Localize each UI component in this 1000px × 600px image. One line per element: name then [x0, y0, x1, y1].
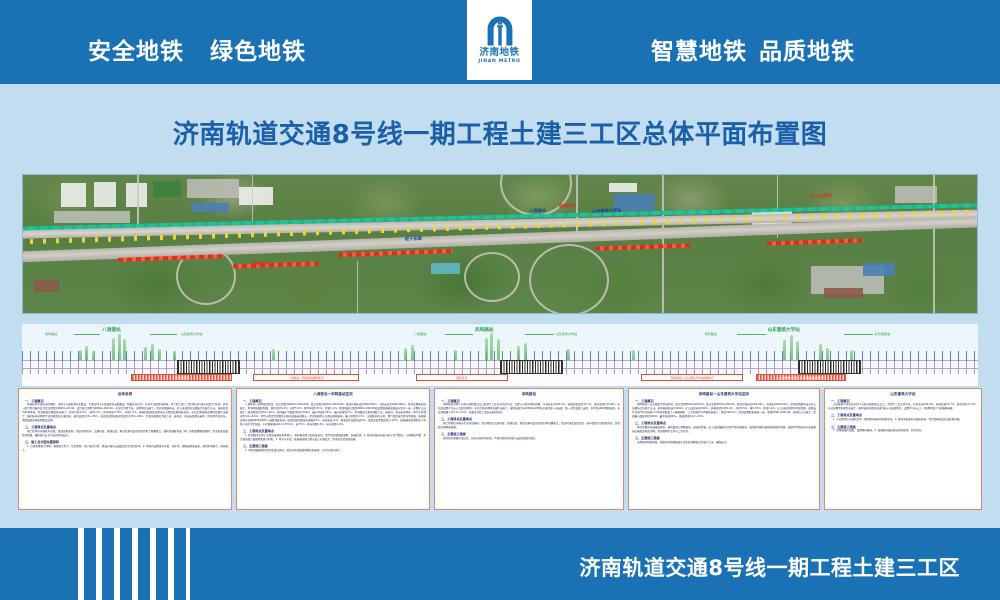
- panel-paragraph: 施工区域内穿越既有道路、管线及构筑物，周边环境复杂，交通导改、管线迁改、降水及基…: [22, 430, 228, 438]
- profile-tree-icon: [485, 338, 488, 360]
- panel-heading: 一、工程概况: [243, 398, 426, 403]
- profile-tree-icon: [490, 333, 493, 360]
- map-sports-field: [153, 181, 182, 198]
- page-title: 济南轨道交通8号线一期工程土建三工区总体平面布置图: [0, 114, 1000, 151]
- map-label-segment: 盾构区间: [559, 202, 576, 209]
- slogan-right: 智慧地铁品质地铁: [651, 32, 855, 66]
- panel-heading: 三、主要施工措施: [441, 431, 620, 436]
- profile-leader-line: [74, 334, 101, 335]
- profile-station-box: [500, 360, 563, 374]
- map-building: [187, 179, 239, 198]
- profile-tree-icon: [819, 344, 822, 360]
- profile-tree-icon: [404, 348, 407, 360]
- panel-heading: 二、工程特点及重难点: [635, 420, 816, 425]
- panel-paragraph: 1. 本区间根据地层条件及周边环境，制定分区段掘进参数控制标准，实行信息化施工。: [240, 449, 426, 453]
- map-alignment-marker: [233, 262, 319, 269]
- map-building: [191, 203, 229, 213]
- profile-tree-icon: [123, 339, 126, 360]
- profile-station-label: 山东建筑大学站: [768, 327, 800, 333]
- longitudinal-profile-drawing: 八涧堡站 凤鸣路站 山东建筑大学站 凤鸣路站 八涧堡站 山东建筑大学站 山东建筑…: [22, 324, 978, 386]
- panel-paragraph: 凤鸣路站～山东建筑大学站区间，起点里程ZDK0+000.00，终点里程ZDK0+…: [632, 403, 816, 419]
- panel-heading: 二、工程特点及重难点: [243, 428, 426, 433]
- panel-heading: 二、工程特点及重难点: [831, 412, 978, 417]
- panel-title: 凤鸣路站: [438, 391, 620, 396]
- profile-segment-box: 山东建筑大学站～彩石南路站盾构区间: [756, 374, 846, 381]
- map-road: [933, 175, 934, 313]
- profile-tree-icon: [632, 350, 635, 360]
- profile-tree-icon: [567, 349, 570, 360]
- map-building: [863, 263, 895, 275]
- jinan-metro-logo: 济南地铁 JINAN METRO: [467, 0, 532, 80]
- logo-text-en: JINAN METRO: [478, 60, 520, 65]
- slogan-safe-metro: 安全地铁: [88, 39, 184, 65]
- profile-leader-line: [844, 334, 873, 335]
- panel-paragraph: 本标段位于济南市历城区，沿经十东路由西向东敷设，主要沿经十东路及既有道路敷设，线…: [22, 403, 228, 423]
- panel-title: 山东建筑大学站: [828, 391, 978, 396]
- map-label-station: 山东建筑大学站: [591, 208, 621, 215]
- panel-paragraph: 区间穿越石灰岩硬岩地层，盾构掘进刀具磨损快，掘进效率低；矿山法段爆破作业需严格控…: [632, 426, 816, 434]
- map-building: [61, 183, 86, 206]
- profile-tree-icon: [151, 344, 154, 360]
- slogan-left: 安全地铁绿色地铁: [88, 32, 306, 66]
- map-building: [609, 183, 638, 191]
- panel-paragraph: 八涧堡站～凤鸣路站区间，起点里程为ZDK0+000.000，终点里程为ZDK0+…: [240, 403, 426, 427]
- panel-paragraph: 1. 合理布置施工场地，满足施工生产、生活需要，减少临时占地，降低对城市交通及居…: [22, 445, 228, 453]
- panel-heading: 二、工程特点及重难点: [25, 424, 228, 429]
- profile-tree-icon: [85, 346, 88, 360]
- panel-paragraph: 凤鸣路站为经十东路与凤鸣路交叉口处地下二层岛式站台车站，沿经十东路东西向布置，车…: [438, 403, 620, 415]
- profile-tree-icon: [826, 348, 829, 360]
- panel-heading: 三、施工总平面布置原则: [25, 439, 228, 444]
- profile-tree-icon: [783, 340, 786, 360]
- profile-tree-icon: [517, 346, 520, 360]
- panel-title: 凤鸣路站～山东建筑大学站区间: [632, 391, 816, 396]
- profile-station-box: [177, 360, 240, 374]
- logo-text-cn: 济南地铁: [479, 48, 519, 58]
- panel-title: 总体说明: [22, 391, 228, 396]
- map-alignment-marker: [595, 244, 690, 251]
- map-building: [34, 280, 59, 292]
- panel-heading: 三、主要施工措施: [831, 424, 978, 429]
- map-label-road: 经十东路: [404, 235, 421, 242]
- slogan-smart-metro: 智慧地铁: [651, 39, 747, 65]
- profile-leader-line: [737, 334, 766, 335]
- profile-tree-icon: [144, 347, 147, 360]
- specification-panels: 总体说明 一、工程概况 本标段位于济南市历城区，沿经十东路由西向东敷设，主要沿经…: [18, 388, 982, 510]
- profile-station-box: [798, 360, 861, 374]
- panel-station-3: 凤鸣路站～山东建筑大学站区间 一、工程概况 凤鸣路站～山东建筑大学站区间，起点里…: [628, 388, 820, 510]
- panel-station-4: 山东建筑大学站 一、工程概况 山东建筑大学站位于经十东路与规划路交叉口，为地下二…: [824, 388, 982, 510]
- profile-leader-line: [445, 334, 474, 335]
- slogan-quality-metro: 品质地铁: [759, 39, 855, 65]
- map-building: [54, 211, 130, 223]
- profile-station-note-left: 八涧堡站: [414, 331, 426, 336]
- panel-heading: 二、工程特点及重难点: [441, 416, 620, 421]
- bottom-banner: 济南轨道交通8号线一期工程土建三工区: [0, 528, 1000, 600]
- panel-paragraph: 1. 采用低噪声设备，设置隔声围挡。2. 加强基坑及桩基自动化监测，实时反馈。: [828, 429, 978, 433]
- profile-tree-icon: [158, 349, 161, 360]
- profile-tree-icon: [118, 334, 121, 360]
- profile-station-label: 八涧堡站: [102, 327, 120, 333]
- profile-station-note-right: 山东建筑大学站: [555, 331, 577, 336]
- profile-leader-line: [525, 334, 554, 335]
- panel-heading: 三、主要施工措施: [635, 435, 816, 440]
- profile-leader-line: [150, 334, 177, 335]
- metro-arch-logo-icon: [485, 15, 515, 47]
- profile-station-note-right: 山东建筑大学站: [181, 331, 203, 336]
- panel-heading: 三、主要施工措施: [243, 443, 426, 448]
- map-label-segment: 矿山法区间: [811, 193, 832, 200]
- panel-paragraph: 施工场地位于城市主干道范围内，需分期进行交通导改，管线迁改、降水及基坑变形控制为…: [438, 422, 620, 430]
- profile-segment-box: 八涧堡站～凤鸣路站盾构区间: [253, 374, 358, 381]
- profile-tree-icon: [524, 343, 527, 360]
- profile-tree-icon: [454, 350, 457, 360]
- map-label-station: 八涧堡站: [529, 208, 546, 215]
- profile-tree-icon: [850, 350, 853, 360]
- panel-title: 八涧堡站～凤鸣路站区间: [240, 391, 426, 396]
- panel-paragraph: 1. 区间隧道与经十东路高架桥桩基净距小，盾构掘进易引起桩基变形，需严格控制掘进…: [240, 434, 426, 442]
- panel-heading: 一、工程概况: [441, 398, 620, 403]
- profile-station-label: 凤鸣路站: [475, 327, 493, 333]
- slogan-green-metro: 绿色地铁: [210, 39, 306, 65]
- profile-station-note-left: 凤鸣路站: [705, 331, 717, 336]
- map-building: [239, 187, 273, 205]
- map-label-segment: 明挖区间: [252, 260, 269, 267]
- map-road: [357, 261, 358, 313]
- map-building: [895, 186, 937, 203]
- panel-heading: 一、工程概况: [25, 398, 228, 403]
- panel-paragraph: 山东建筑大学站位于经十东路与规划路交叉口，为地下二层岛式车站，车站总长000.0…: [828, 403, 978, 411]
- panel-heading: 一、工程概况: [635, 398, 816, 403]
- profile-station-note-left: 凤鸣路站: [45, 331, 57, 336]
- map-interchange-ramp: [464, 252, 520, 302]
- profile-tree-icon: [497, 339, 500, 360]
- decorative-stripes: [78, 528, 190, 600]
- profile-tree-icon: [79, 350, 82, 360]
- profile-segment-box: 明挖区间: [416, 374, 508, 381]
- profile-segment-box: 矿山法区间: [131, 374, 232, 381]
- panel-general-description: 总体说明 一、工程概况 本标段位于济南市历城区，沿经十东路由西向东敷设，主要沿经…: [18, 388, 232, 510]
- map-building: [824, 288, 862, 298]
- map-pond: [431, 263, 460, 274]
- profile-tree-icon: [790, 335, 793, 360]
- profile-tree-icon: [796, 341, 799, 360]
- profile-tree-icon: [92, 351, 95, 360]
- map-interchange-ramp: [529, 244, 609, 314]
- panel-heading: 一、工程概况: [831, 398, 978, 403]
- map-building: [94, 182, 117, 207]
- panel-station-1: 八涧堡站～凤鸣路站区间 一、工程概况 八涧堡站～凤鸣路站区间，起点里程为ZDK0…: [236, 388, 430, 510]
- profile-tree-icon: [112, 338, 115, 360]
- panel-paragraph: 基坑开挖遵循先撑后挖、分层分段开挖原则，严格控制开挖进度与支撑架设时间差。: [438, 437, 620, 441]
- profile-tree-icon: [173, 351, 176, 360]
- map-alignment-marker: [767, 238, 862, 245]
- top-banner: 安全地铁绿色地铁 济南地铁 JINAN METRO 智慧地铁品质地铁: [0, 0, 1000, 84]
- panel-station-2: 凤鸣路站 一、工程概况 凤鸣路站为经十东路与凤鸣路交叉口处地下二层岛式站台车站，…: [434, 388, 624, 510]
- footer-project-name: 济南轨道交通8号线一期工程土建三工区: [579, 552, 960, 582]
- profile-tree-icon: [411, 345, 414, 360]
- aerial-alignment-overview: 八涧堡站 盾构区间 山东建筑大学站 矿山法区间 明挖区间 经十东路: [22, 174, 978, 314]
- profile-segment-box: 凤鸣路站～山东建筑大学站盾构区间: [641, 374, 742, 381]
- profile-station-note-right: 彩石南路站: [875, 331, 890, 336]
- panel-paragraph: 采用超前地质预报、微振动控制爆破及信息化监测相结合的施工方法，确保安全。: [632, 441, 816, 445]
- panel-paragraph: 1. 车站紧邻山东建筑大学，教学期间噪声控制要求高。2. 基坑邻近既有高架桥桩基…: [828, 418, 978, 422]
